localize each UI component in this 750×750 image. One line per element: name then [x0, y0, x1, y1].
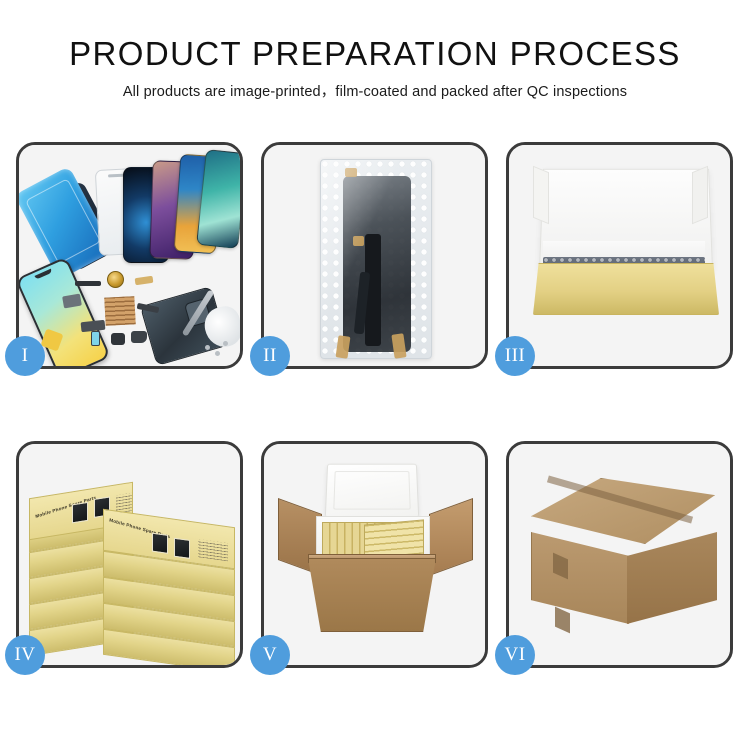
box-window-l1 — [72, 502, 88, 524]
step-badge-3: III — [495, 336, 535, 376]
step-badge-2: II — [250, 336, 290, 376]
scene-carton-loading — [264, 444, 485, 665]
step-image-5 — [264, 444, 485, 665]
scene-open-inner-box — [509, 145, 730, 366]
product-preparation-infographic: PRODUCT PREPARATION PROCESS All products… — [0, 0, 750, 750]
scene-bubble-wrapped-unit — [264, 145, 485, 366]
step-badge-6: VI — [495, 635, 535, 675]
box-stack-right: Mobile Phone Spare Parts — [103, 518, 235, 665]
step-card-6: VI — [506, 441, 733, 668]
step-image-1 — [19, 145, 240, 366]
box-lid-flap-left — [533, 166, 549, 224]
carton-front-face — [531, 532, 629, 624]
yellow-box-tray — [533, 263, 719, 315]
box-text-lines-right — [198, 539, 228, 561]
box-window-r2 — [174, 538, 190, 559]
screw-1 — [205, 345, 210, 350]
screw-3 — [223, 341, 228, 346]
scene-stacked-boxes: Mobile Phone Spare Parts Mobile Phone Sp — [19, 444, 240, 665]
step-badge-1: I — [5, 336, 45, 376]
carton-flap-right — [429, 498, 473, 576]
box-lid-flap-right — [692, 166, 708, 224]
camera-module-part — [111, 333, 125, 345]
foam-lid — [325, 464, 419, 518]
step-badge-4: IV — [5, 635, 45, 675]
flex-cable-part-1 — [75, 281, 101, 286]
step-image-3 — [509, 145, 730, 366]
carton-top-face — [531, 478, 715, 544]
speaker-part — [131, 331, 147, 343]
step-image-6 — [509, 444, 730, 665]
screw-2 — [215, 351, 220, 356]
step-image-4: Mobile Phone Spare Parts Mobile Phone Sp — [19, 444, 240, 665]
step-card-2: II — [261, 142, 488, 369]
sim-tray-part — [91, 331, 100, 346]
step-badge-5: V — [250, 635, 290, 675]
copper-coil-part — [107, 271, 124, 288]
scene-sealed-carton — [509, 444, 730, 665]
page-title: PRODUCT PREPARATION PROCESS — [0, 34, 750, 74]
packed-boxes-row-2 — [364, 519, 424, 558]
carton-tab-2 — [555, 607, 570, 634]
box-window-r1 — [152, 533, 168, 554]
bubble-wrap-bag — [320, 159, 432, 359]
step-card-1: I — [16, 142, 243, 369]
step-card-5: V — [261, 441, 488, 668]
tape-strip-3 — [336, 335, 351, 358]
page-subtitle: All products are image-printed，film-coat… — [0, 83, 750, 101]
screw-tray-part — [104, 296, 135, 326]
connector-part-1 — [135, 276, 154, 285]
scene-parts-flatlay — [19, 145, 240, 366]
tape-strip-1 — [345, 168, 357, 177]
step-card-3: III — [506, 142, 733, 369]
carton-body — [308, 558, 436, 632]
step-image-2 — [264, 145, 485, 366]
header: PRODUCT PREPARATION PROCESS All products… — [0, 34, 750, 101]
tape-strip-2 — [353, 236, 364, 246]
step-card-4: Mobile Phone Spare Parts Mobile Phone Sp — [16, 441, 243, 668]
process-step-grid: I II — [16, 142, 734, 668]
carton-side-face — [627, 532, 717, 624]
